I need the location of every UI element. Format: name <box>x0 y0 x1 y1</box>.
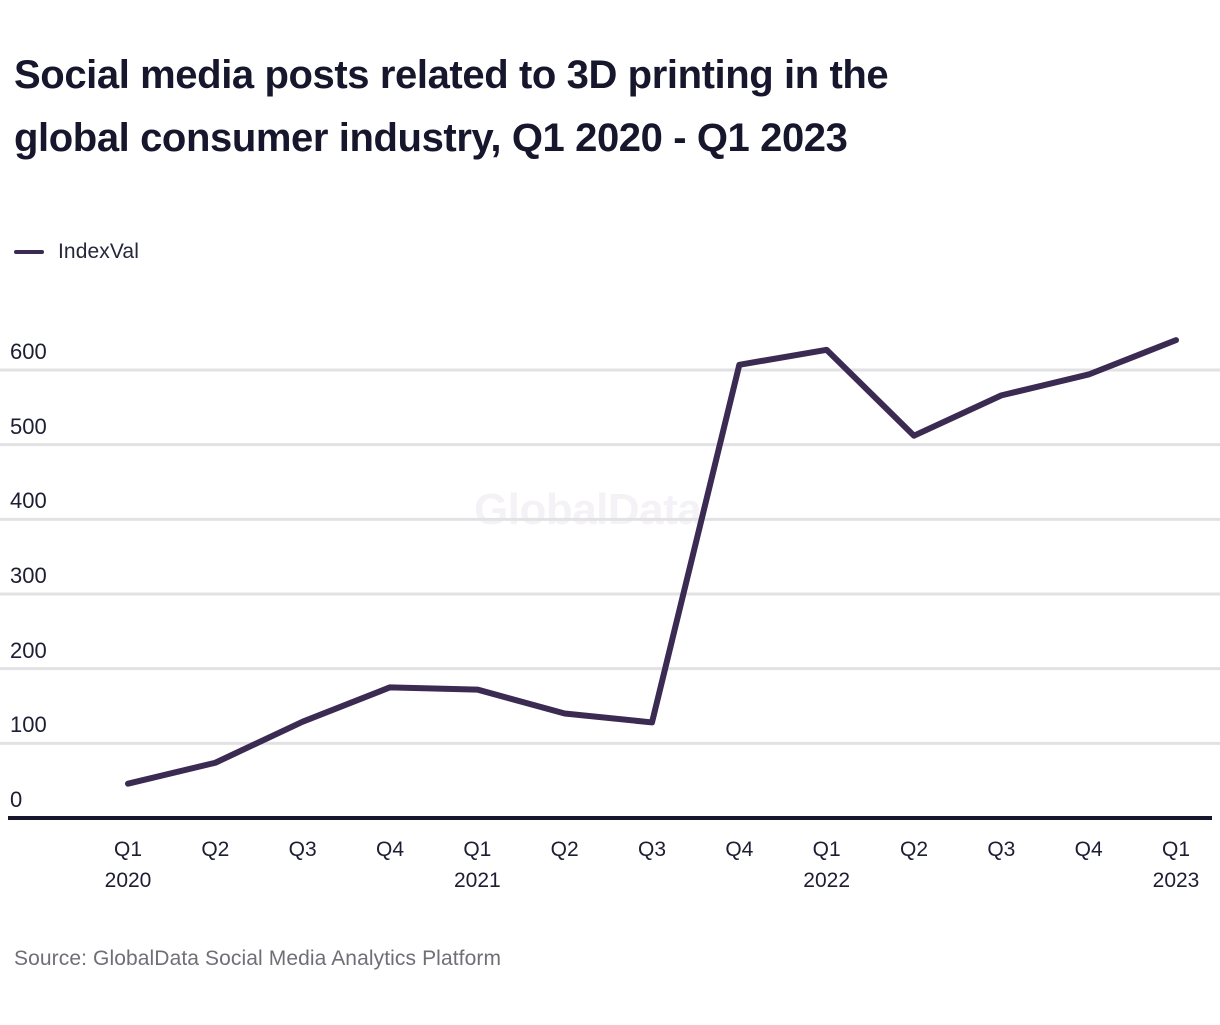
x-axis-tick-label: Q3 <box>289 838 317 862</box>
chart-page: Social media posts related to 3D printin… <box>0 0 1220 1020</box>
x-axis-tick-label: Q4 <box>725 838 753 862</box>
x-axis-tick-label: Q2 <box>551 838 579 862</box>
line-chart-svg <box>0 0 1220 1020</box>
x-tick-quarter: Q2 <box>201 838 229 862</box>
x-tick-quarter: Q1 <box>803 838 850 862</box>
source-note: Source: GlobalData Social Media Analytic… <box>14 947 501 971</box>
x-tick-quarter: Q4 <box>725 838 753 862</box>
x-tick-year: 2023 <box>1153 869 1200 893</box>
x-axis-tick-label: Q2 <box>900 838 928 862</box>
x-tick-quarter: Q4 <box>376 838 404 862</box>
x-axis-tick-label: Q4 <box>1075 838 1103 862</box>
x-tick-quarter: Q4 <box>1075 838 1103 862</box>
x-axis-tick-label: Q12021 <box>454 838 501 893</box>
y-axis-tick-label: 300 <box>10 563 47 594</box>
x-axis-tick-label: Q12023 <box>1153 838 1200 893</box>
x-tick-quarter: Q1 <box>1153 838 1200 862</box>
y-axis-tick-label: 400 <box>10 488 47 519</box>
y-axis-tick-label: 100 <box>10 712 47 743</box>
x-tick-quarter: Q3 <box>638 838 666 862</box>
x-tick-quarter: Q2 <box>900 838 928 862</box>
x-axis-tick-label: Q2 <box>201 838 229 862</box>
y-axis-tick-label: 600 <box>10 339 47 370</box>
x-tick-year: 2020 <box>105 869 152 893</box>
x-axis-tick-label: Q12022 <box>803 838 850 893</box>
x-tick-quarter: Q3 <box>987 838 1015 862</box>
x-axis-tick-label: Q12020 <box>105 838 152 893</box>
x-axis-tick-label: Q3 <box>987 838 1015 862</box>
y-axis-tick-label: 200 <box>10 638 47 669</box>
y-axis-tick-label: 500 <box>10 414 47 445</box>
x-axis-tick-label: Q4 <box>376 838 404 862</box>
plot-area <box>0 0 1220 1020</box>
x-axis-tick-label: Q3 <box>638 838 666 862</box>
x-tick-quarter: Q1 <box>105 838 152 862</box>
x-tick-year: 2021 <box>454 869 501 893</box>
x-tick-quarter: Q1 <box>454 838 501 862</box>
y-axis-tick-label: 0 <box>10 787 22 818</box>
x-tick-year: 2022 <box>803 869 850 893</box>
series-line-indexval <box>128 340 1176 784</box>
x-tick-quarter: Q2 <box>551 838 579 862</box>
x-tick-quarter: Q3 <box>289 838 317 862</box>
